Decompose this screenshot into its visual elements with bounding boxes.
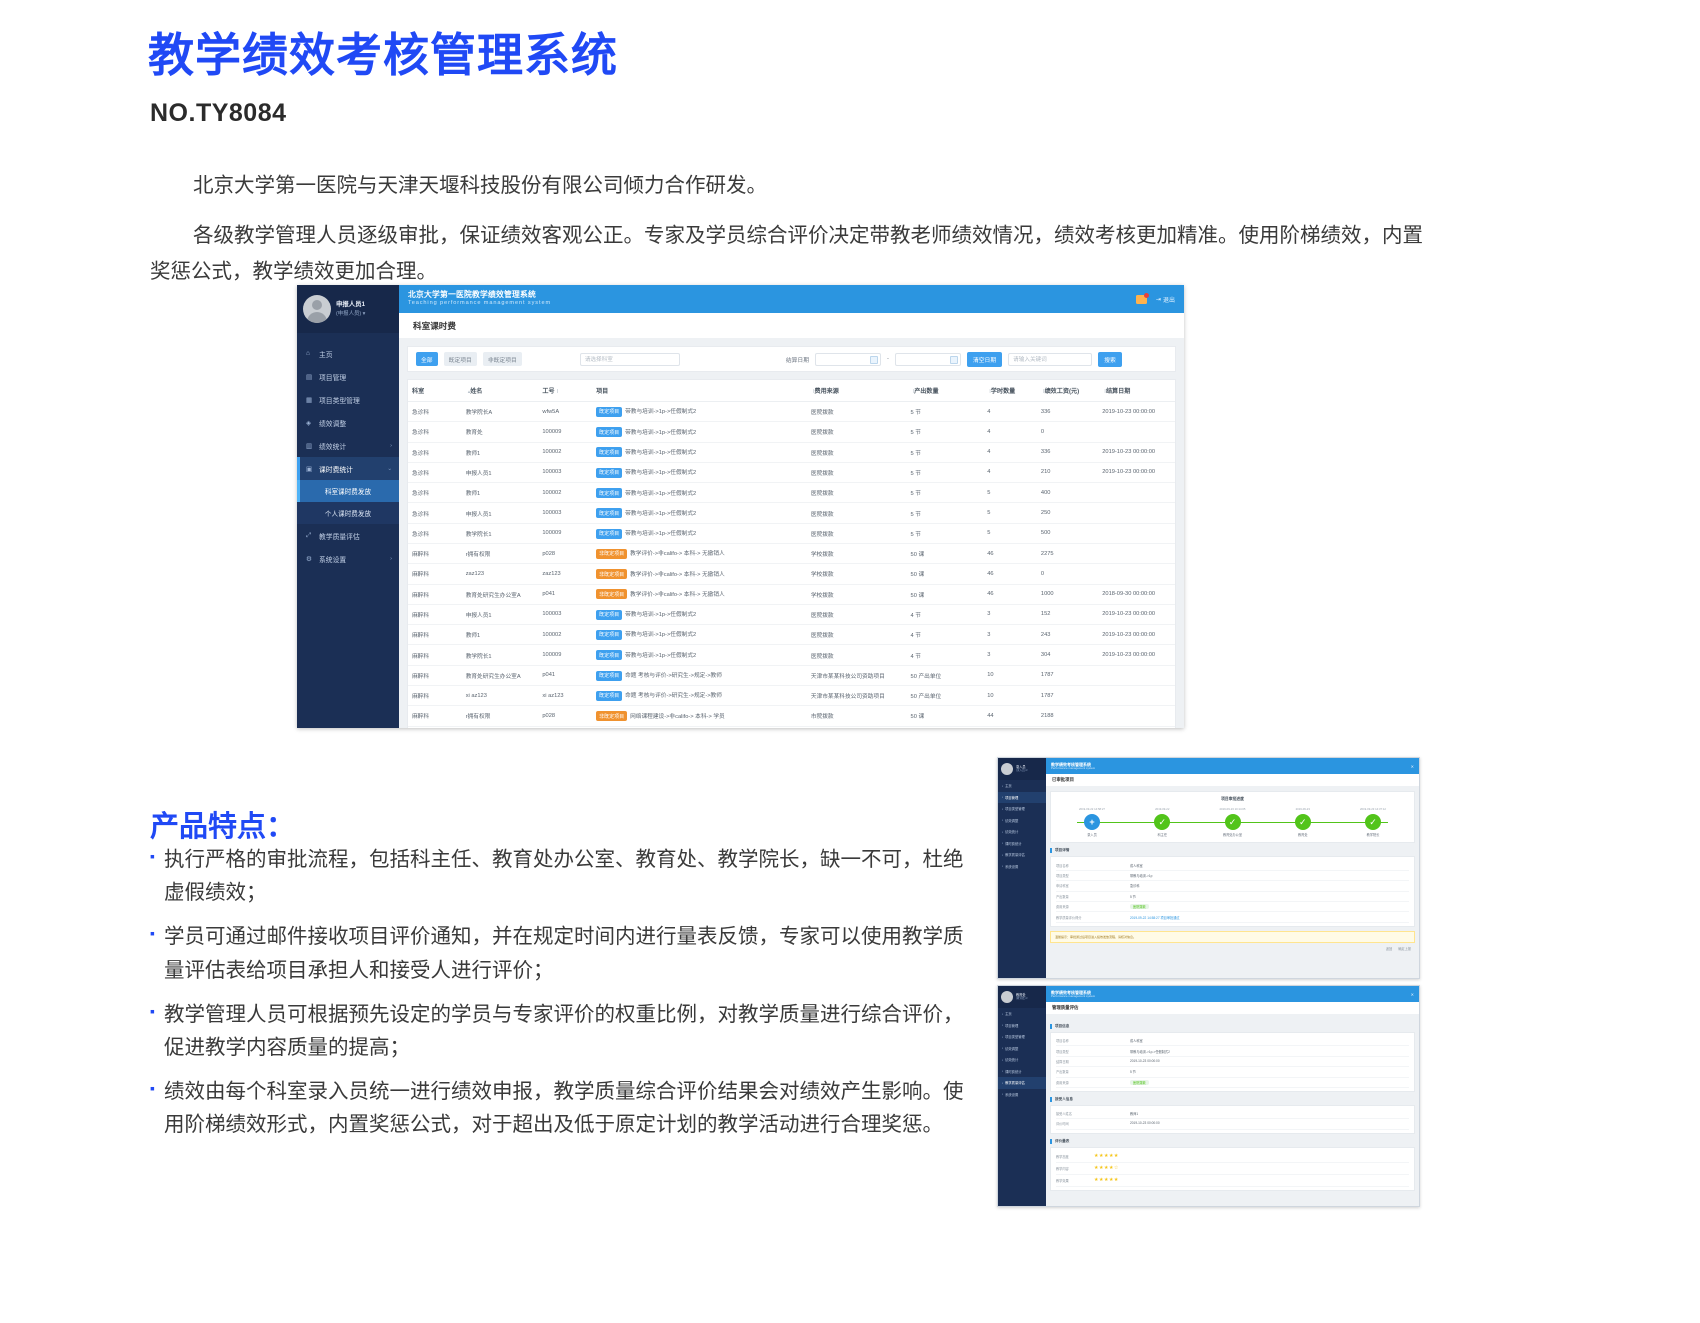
close-icon[interactable]: ✕ <box>1411 764 1414 769</box>
step-name: 科主任 <box>1131 833 1193 837</box>
sidebar-subitem-dept-class-fee[interactable]: 科室课时费发放 <box>297 480 399 502</box>
star-rating-icon[interactable]: ★★★★★ <box>1094 1153 1119 1159</box>
filter-chip-nonfixed-project[interactable]: 非既定项目 <box>483 352 522 366</box>
table-row[interactable]: 麻醉科教师1100002既定项目带教与培训->1p->任假制式2医院拨款4 节3… <box>408 625 1175 645</box>
step-status-icon: ✓ <box>1295 814 1311 830</box>
cell-name: 教学院长1 <box>462 645 539 665</box>
cell-date: 2019-10-23 00:00:00 <box>1098 442 1175 462</box>
sidebar-subitem-personal-class-fee[interactable]: 个人课时费发放 <box>297 502 399 524</box>
cell-project: 既定项目命题 考核与评价->研究生->规定->教师 <box>592 665 807 685</box>
sidebar-item-teaching-quality[interactable]: ⤢ 教学质量评估 <box>297 524 399 547</box>
table-row[interactable]: 麻醉科zaz123zaz123非既定项目网络课程建设->非califo-> 本科… <box>408 726 1175 728</box>
detail-label: 产出数量 <box>1056 894 1130 899</box>
detail-label: 项目名称 <box>1056 863 1130 868</box>
table-row[interactable]: 急诊科教师1100002既定项目带教与培训->1p->任假制式2医院拨款5 节4… <box>408 442 1175 462</box>
app-sidebar: 申报人员1 (申报人员) ▾ ⌂ 主页 ▤ 项目管理 ▦ 项目类型管理 ◈ 绩效… <box>297 285 399 728</box>
close-icon[interactable]: ✕ <box>1411 992 1414 997</box>
clear-date-button[interactable]: 清空日期 <box>967 352 1002 367</box>
project-tag: 既定项目 <box>596 529 622 539</box>
menu-icon: ▪ <box>1002 1069 1003 1073</box>
approval-step: ✓科主任 <box>1131 814 1193 837</box>
menu-icon: ▪ <box>1002 795 1003 799</box>
table-row[interactable]: 麻醉科r拥有权限p028非既定项目网络课程建设->非califo-> 本科-> … <box>408 706 1175 726</box>
col-date[interactable]: ⁞结算日期 <box>1098 380 1175 402</box>
sidebar-item-label: 主页 <box>1005 783 1012 788</box>
cell-date <box>1098 523 1175 543</box>
sidebar-item-label: 绩效调整 <box>319 418 346 428</box>
project-tag: 既定项目 <box>596 407 622 417</box>
cell-date <box>1098 685 1175 705</box>
filter-bar: 全部 既定项目 非既定项目 请选择科室 结算日期 - 清空日期 请输入关键词 搜… <box>407 346 1176 372</box>
menu-icon: ▪ <box>1002 807 1003 811</box>
detail-row: 项目类型带教与培训->1p <box>1056 871 1409 881</box>
detail-value: 成人科室 <box>1130 1038 1143 1043</box>
logout-icon: ⇥ <box>1156 296 1161 303</box>
approval-user-block[interactable]: 录入员 (录入员) ▾ <box>998 758 1046 780</box>
menu-icon: ▪ <box>1002 1023 1003 1027</box>
approval-footer: 返回 确定上报 <box>1050 943 1415 951</box>
cell-salary: 210 <box>1037 462 1098 482</box>
sidebar-item-label: 绩效统计 <box>1005 829 1018 834</box>
table-row[interactable]: 麻醉科申报人员1100003既定项目带教与培训->1p->任假制式2医院拨款4 … <box>408 604 1175 624</box>
cell-hours: 46 <box>983 564 1037 584</box>
intro-paragraph-1: 北京大学第一医院与天津天堰科技股份有限公司倾力合作研发。 <box>150 168 1430 204</box>
sidebar-item[interactable]: ▪教学质量评估 <box>998 849 1046 861</box>
bullet-icon: ▪ <box>150 843 155 909</box>
sidebar-item[interactable]: ▪课时费统计 <box>998 1066 1046 1078</box>
sidebar-user-block[interactable]: 申报人员1 (申报人员) ▾ <box>297 285 399 333</box>
user-name: 申报人员1 <box>336 300 365 310</box>
sidebar-item[interactable]: ▪主页 <box>998 780 1046 792</box>
date-start-input[interactable] <box>815 353 881 366</box>
grid-icon: ▦ <box>306 396 314 404</box>
col-jobno[interactable]: 工号⁞ <box>538 380 592 402</box>
sidebar-item[interactable]: ▪系统设置 <box>998 861 1046 873</box>
approval-content: 教学绩效考核管理系统 Performance management system… <box>1046 758 1419 978</box>
cell-name: 申报人员1 <box>462 604 539 624</box>
cell-salary: 1000 <box>1037 584 1098 604</box>
cell-project: 非既定项目教学评价->非califo-> 本科-> 无撤销人 <box>592 543 807 563</box>
table-row[interactable]: 急诊科申报人员1100003既定项目带教与培训->1p->任假制式2医院拨款5 … <box>408 503 1175 523</box>
feature-item: ▪执行严格的审批流程，包括科主任、教育处办公室、教育处、教学院长，缺一不可，杜绝… <box>150 843 970 909</box>
quality-rating-screenshot: 教育处 (教育处) ▾ ▪主页▪项目管理▪项目类型管理▪绩效调整▪绩效统计▪课时… <box>997 985 1420 1207</box>
brand-subtitle: Performance management system <box>1051 995 1095 999</box>
calendar-icon <box>950 356 958 364</box>
sidebar-item[interactable]: ▪项目管理 <box>998 792 1046 804</box>
rating-row[interactable]: 教学态度★★★★★ <box>1056 1151 1409 1163</box>
cell-project: 既定项目带教与培训->1p->任假制式2 <box>592 483 807 503</box>
cell-source: 医院拨款 <box>807 523 907 543</box>
cell-source: 天津市某某科技公司资助项目 <box>807 665 907 685</box>
avatar <box>1001 763 1013 775</box>
cell-project: 既定项目带教与培训->1p->任假制式2 <box>592 422 807 442</box>
person-info-card: 接受人姓名教师1评价时间2019-10-23 00:00:00 <box>1050 1105 1415 1134</box>
data-table: 科室 ▴姓名 工号⁞ 项目 ⁞费用来源 ⁞产出数量 ⁞学时数量 ⁞绩效工资(元)… <box>408 380 1175 728</box>
sidebar-item-label: 项目类型管理 <box>1005 1034 1025 1039</box>
sidebar-item-label: 课时费统计 <box>319 464 353 474</box>
cell-jobno: 100009 <box>538 422 592 442</box>
cell-dept: 急诊科 <box>408 483 462 503</box>
filter-chip-fixed-project[interactable]: 既定项目 <box>444 352 477 366</box>
col-salary[interactable]: ⁞绩效工资(元) <box>1037 380 1098 402</box>
cell-name: 申报人员1 <box>462 503 539 523</box>
sidebar-item-class-fee-stats[interactable]: ▣ 课时费统计 ⌄ <box>297 457 399 480</box>
cell-dept: 急诊科 <box>408 503 462 523</box>
star-rating-icon[interactable]: ★★★★☆ <box>1094 1165 1119 1171</box>
sidebar-item[interactable]: ▪项目管理 <box>998 1020 1046 1032</box>
col-dept[interactable]: 科室 <box>408 380 462 402</box>
sidebar-item-label: 系统设置 <box>1005 864 1018 869</box>
cell-hours: 5 <box>983 503 1037 523</box>
intro-paragraph-2: 各级教学管理人员逐级审批，保证绩效客观公正。专家及学员综合评价决定带教老师绩效情… <box>150 218 1430 290</box>
sidebar-item-label: 课时费统计 <box>1005 841 1021 846</box>
cell-date: 2018-09-10 00:00:00 <box>1098 726 1175 728</box>
approval-step: ✓教育处办公室 <box>1202 814 1264 837</box>
detail-value: 医院拨款 <box>1130 904 1149 909</box>
sidebar-item-project-management[interactable]: ▤ 项目管理 <box>297 365 399 388</box>
person-section-title: 接受人信息 <box>1050 1097 1415 1102</box>
chevron-down-icon: ⌄ <box>387 466 392 472</box>
cell-date: 2018-09-30 00:00:00 <box>1098 584 1175 604</box>
cell-salary: 500 <box>1037 726 1098 728</box>
cell-salary: 2188 <box>1037 706 1098 726</box>
cell-salary: 2275 <box>1037 543 1098 563</box>
cell-jobno: 100002 <box>538 483 592 503</box>
cell-jobno: 100003 <box>538 604 592 624</box>
project-section-title: 项目信息 <box>1050 1024 1415 1029</box>
cell-salary: 1787 <box>1037 685 1098 705</box>
cell-dept: 麻醉科 <box>408 564 462 584</box>
rating-sidebar: 教育处 (教育处) ▾ ▪主页▪项目管理▪项目类型管理▪绩效调整▪绩效统计▪课时… <box>998 986 1046 1206</box>
col-name[interactable]: ▴姓名 <box>462 380 539 402</box>
bullet-icon: ▪ <box>150 920 155 986</box>
detail-row: 费用来源医院拨款 <box>1056 1078 1409 1088</box>
menu-icon: ▪ <box>1002 853 1003 857</box>
sidebar-item-label: 绩效统计 <box>319 441 346 451</box>
table-row[interactable]: 急诊科教学院长1100009既定项目带教与培训->1p->任假制式2医院拨款5 … <box>408 523 1175 543</box>
table-row[interactable]: 急诊科申报人员1100003既定项目带教与培训->1p->任假制式2医院拨款5 … <box>408 462 1175 482</box>
search-button[interactable]: 搜索 <box>1098 352 1122 367</box>
sidebar-item-label: 绩效统计 <box>1005 1057 1018 1062</box>
detail-label: 费用来源 <box>1056 1080 1130 1085</box>
breadcrumb: 科室课时费 <box>399 313 1184 339</box>
user-role: (教育处) ▾ <box>1016 997 1028 1001</box>
approval-sidebar-menu: ▪主页▪项目管理▪项目类型管理▪绩效调整▪绩效统计▪课时费统计▪教学质量评估▪系… <box>998 780 1046 872</box>
col-hours[interactable]: ⁞学时数量 <box>983 380 1037 402</box>
table-row[interactable]: 麻醉科教育处研究生办公室Ap041既定项目命题 考核与评价->研究生->规定->… <box>408 665 1175 685</box>
feature-text: 教学管理人员可根据预先设定的学员与专家评价的权重比例，对教学质量进行综合评价，促… <box>164 998 970 1064</box>
detail-value: 成人科室 <box>1130 863 1143 868</box>
cell-jobno: 100002 <box>538 442 592 462</box>
sidebar-item[interactable]: ▪绩效调整 <box>998 1043 1046 1055</box>
cell-hours: 5 <box>983 483 1037 503</box>
rating-section-title: 评价量表 <box>1050 1139 1415 1144</box>
cell-date: 2019-10-23 00:00:00 <box>1098 625 1175 645</box>
detail-value: 2019-09-22 14:58:27 项目审批通过 <box>1130 915 1180 920</box>
cell-date <box>1098 665 1175 685</box>
table-row[interactable]: 麻醉科教学院长1100009既定项目带教与培训->1p->任假制式2医院拨款4 … <box>408 645 1175 665</box>
table-row[interactable]: 急诊科教育处100009既定项目带教与培训->1p->任假制式2医院拨款5 节4… <box>408 422 1175 442</box>
cell-name: r拥有权限 <box>462 706 539 726</box>
rating-main: 项目信息 项目名称成人科室项目类型带教与培训->1p->任假制式2结算日期201… <box>1046 1015 1419 1206</box>
cell-source: 医院拨款 <box>807 645 907 665</box>
cell-salary: 0 <box>1037 422 1098 442</box>
approval-main: 项目审批进度 2019-09-22 14:58:272019-09-222019… <box>1046 787 1419 978</box>
cell-project: 既定项目带教与培训->1p->任假制式2 <box>592 462 807 482</box>
cell-date <box>1098 422 1175 442</box>
sidebar-item-project-type-management[interactable]: ▦ 项目类型管理 <box>297 388 399 411</box>
intro-text: 北京大学第一医院与天津天堰科技股份有限公司倾力合作研发。 各级教学管理人员逐级审… <box>150 168 1430 304</box>
submit-button[interactable]: 确定上报 <box>1398 946 1411 951</box>
detail-label: 费用来源 <box>1056 904 1130 909</box>
feature-text: 绩效由每个科室录入员统一进行绩效申报，教学质量综合评价结果会对绩效产生影响。使用… <box>164 1075 970 1141</box>
cell-output: 5 节 <box>907 442 984 462</box>
detail-label: 项目类型 <box>1056 1049 1130 1054</box>
cell-source: 医院拨款 <box>807 462 907 482</box>
table-row[interactable]: 麻醉科xi az123xi az123既定项目命题 考核与评价->研究生->规定… <box>408 685 1175 705</box>
cell-output: 4 节 <box>907 604 984 624</box>
project-tag: 既定项目 <box>596 671 622 681</box>
sidebar-item-system-settings[interactable]: ⚙ 系统设置 › <box>297 547 399 570</box>
sidebar-item-performance-stats[interactable]: ▥ 绩效统计 › <box>297 434 399 457</box>
menu-icon: ▪ <box>1002 864 1003 868</box>
cell-project: 非既定项目网络课程建设->非califo-> 本科-> 学员 <box>592 726 807 728</box>
rating-content: 教学绩效考核管理系统 Performance management system… <box>1046 986 1419 1206</box>
approval-header: 教学绩效考核管理系统 Performance management system… <box>1046 758 1419 774</box>
approval-step: ✓教育处 <box>1272 814 1334 837</box>
sidebar-item[interactable]: ▪项目类型管理 <box>998 1031 1046 1043</box>
cell-source: 学校拨款 <box>807 584 907 604</box>
cell-source: 市院拨款 <box>807 726 907 728</box>
approval-progress-card: 项目审批进度 2019-09-22 14:58:272019-09-222019… <box>1050 791 1415 843</box>
sidebar-subitem-label: 科室课时费发放 <box>325 486 371 496</box>
table-body: 急诊科教学院长Awfw5A既定项目带教与培训->1p->任假制式2医院拨款5 节… <box>408 402 1175 729</box>
cell-output: 50 课 <box>907 543 984 563</box>
sidebar-item-home[interactable]: ⌂ 主页 <box>297 342 399 365</box>
cell-name: r拥有权限 <box>462 543 539 563</box>
cell-project: 既定项目带教与培训->1p->任假制式2 <box>592 402 807 422</box>
cell-dept: 麻醉科 <box>408 706 462 726</box>
date-separator: - <box>887 356 889 362</box>
cell-name: 教师1 <box>462 483 539 503</box>
feature-text: 执行严格的审批流程，包括科主任、教育处办公室、教育处、教学院长，缺一不可，杜绝虚… <box>164 843 970 909</box>
logout-button[interactable]: ⇥ 退出 <box>1156 295 1175 304</box>
approval-note: 温馨提示：审批通过后项目进入绩效发放流程，请核对信息。 <box>1050 931 1415 943</box>
sidebar-item-label: 系统设置 <box>319 554 346 564</box>
sidebar-item[interactable]: ▪绩效统计 <box>998 826 1046 838</box>
menu-icon: ▪ <box>1002 830 1003 834</box>
card-title: 项目审批进度 <box>1057 797 1408 802</box>
cell-name: zaz123 <box>462 564 539 584</box>
filter-chip-all[interactable]: 全部 <box>416 352 438 366</box>
step-status-icon: ✓ <box>1225 814 1241 830</box>
sidebar-item-label: 项目管理 <box>319 372 346 382</box>
rating-row[interactable]: 教学内容★★★★☆ <box>1056 1163 1409 1175</box>
detail-row: 申请科室急诊科 <box>1056 881 1409 891</box>
table-row[interactable]: 急诊科教师1100002既定项目带教与培训->1p->任假制式2医院拨款5 节5… <box>408 483 1175 503</box>
project-tag: 既定项目 <box>596 610 622 620</box>
cell-source: 医院拨款 <box>807 442 907 462</box>
detail-value: 医院拨款 <box>1130 1080 1149 1085</box>
feature-text: 学员可通过邮件接收项目评价通知，并在规定时间内进行量表反馈，专家可以使用教学质量… <box>164 920 970 986</box>
sidebar-item-performance-adjust[interactable]: ◈ 绩效调整 <box>297 411 399 434</box>
sidebar-item[interactable]: ▪教学质量评估 <box>998 1077 1046 1089</box>
rating-label: 教学内容 <box>1056 1166 1090 1171</box>
rating-label: 教学态度 <box>1056 1154 1090 1159</box>
cell-salary: 243 <box>1037 625 1098 645</box>
cell-salary: 1787 <box>1037 665 1098 685</box>
sidebar-item[interactable]: ▪绩效调整 <box>998 815 1046 827</box>
cell-salary: 500 <box>1037 523 1098 543</box>
cell-hours: 46 <box>983 584 1037 604</box>
sidebar-item[interactable]: ▪绩效统计 <box>998 1054 1046 1066</box>
cell-source: 学校拨款 <box>807 564 907 584</box>
detail-row: 产出数量5 节 <box>1056 892 1409 902</box>
rating-user-block[interactable]: 教育处 (教育处) ▾ <box>998 986 1046 1008</box>
detail-row: 结算日期2019-10-23 00:00:00 <box>1056 1057 1409 1067</box>
step-status-icon: ✓ <box>1365 814 1381 830</box>
cell-hours: 44 <box>983 726 1037 728</box>
approval-step: +录入员 <box>1061 814 1123 837</box>
app-brand-subtitle: Teaching performance management system <box>408 300 551 308</box>
cell-date <box>1098 543 1175 563</box>
sidebar-item-label: 教学质量评估 <box>319 531 360 541</box>
approval-detail-card: 项目名称成人科室项目类型带教与培训->1p申请科室急诊科产出数量5 节费用来源医… <box>1050 856 1415 926</box>
brand-subtitle: Performance management system <box>1051 767 1095 771</box>
cell-jobno: 100009 <box>538 523 592 543</box>
cell-dept: 麻醉科 <box>408 543 462 563</box>
menu-icon: ▪ <box>1002 1035 1003 1039</box>
cell-output: 5 节 <box>907 503 984 523</box>
col-output[interactable]: ⁞产出数量 <box>907 380 984 402</box>
sidebar-item-label: 项目类型管理 <box>1005 806 1025 811</box>
sidebar-item[interactable]: ▪系统设置 <box>998 1089 1046 1101</box>
detail-label: 结算日期 <box>1056 1059 1130 1064</box>
cell-output: 5 节 <box>907 422 984 442</box>
cell-salary: 304 <box>1037 645 1098 665</box>
sidebar-item-label: 项目管理 <box>1005 795 1018 800</box>
cell-output: 50 课 <box>907 706 984 726</box>
detail-value: 带教与培训->1p->任假制式2 <box>1130 1049 1170 1054</box>
cell-jobno: p028 <box>538 706 592 726</box>
detail-value: 急诊科 <box>1130 883 1140 888</box>
cell-output: 50 课 <box>907 564 984 584</box>
cell-project: 既定项目命题 考核与评价->研究生->规定->教师 <box>592 685 807 705</box>
avatar <box>1001 991 1013 1003</box>
sidebar-item-label: 系统设置 <box>1005 1092 1018 1097</box>
sidebar-item[interactable]: ▪主页 <box>998 1008 1046 1020</box>
detail-label: 项目类型 <box>1056 873 1130 878</box>
features-heading: 产品特点： <box>150 803 295 845</box>
cell-dept: 麻醉科 <box>408 726 462 728</box>
table-row[interactable]: 麻醉科r拥有权限p028非既定项目教学评价->非califo-> 本科-> 无撤… <box>408 543 1175 563</box>
cell-date: 2019-10-23 00:00:00 <box>1098 462 1175 482</box>
approval-stepper: +录入员✓科主任✓教育处办公室✓教育处✓教学院长 <box>1057 814 1408 837</box>
cell-output: 4 节 <box>907 625 984 645</box>
cell-salary: 0 <box>1037 564 1098 584</box>
rating-label: 教学效果 <box>1056 1178 1090 1183</box>
sidebar-item[interactable]: ▪课时费统计 <box>998 838 1046 850</box>
cell-hours: 10 <box>983 665 1037 685</box>
search-input[interactable]: 请输入关键词 <box>1008 353 1092 366</box>
feature-item: ▪教学管理人员可根据预先设定的学员与专家评价的权重比例，对教学质量进行综合评价，… <box>150 998 970 1064</box>
project-tag: 既定项目 <box>596 691 622 701</box>
detail-row: 产出数量5 节 <box>1056 1067 1409 1077</box>
cell-dept: 急诊科 <box>408 442 462 462</box>
table-row[interactable]: 麻醉科zaz123zaz123非既定项目教学评价->非califo-> 本科->… <box>408 564 1175 584</box>
rating-row[interactable]: 教学效果★★★★★ <box>1056 1175 1409 1187</box>
cell-date <box>1098 706 1175 726</box>
department-select[interactable]: 请选择科室 <box>580 353 680 366</box>
cell-hours: 4 <box>983 402 1037 422</box>
file-icon: ▤ <box>306 373 314 381</box>
cell-salary: 400 <box>1037 483 1098 503</box>
app-content: 北京大学第一医院教学绩效管理系统 Teaching performance ma… <box>399 285 1184 728</box>
sidebar-item[interactable]: ▪项目类型管理 <box>998 803 1046 815</box>
date-end-input[interactable] <box>895 353 961 366</box>
sidebar-item-label: 项目管理 <box>1005 1023 1018 1028</box>
project-tag: 既定项目 <box>596 488 622 498</box>
calc-icon: ▣ <box>306 465 314 473</box>
cell-dept: 麻醉科 <box>408 584 462 604</box>
cell-salary: 250 <box>1037 503 1098 523</box>
cell-source: 医院拨款 <box>807 625 907 645</box>
message-icon[interactable] <box>1136 295 1147 304</box>
detail-section-title: 项目详情 <box>1050 848 1415 853</box>
cell-name: zaz123 <box>462 726 539 728</box>
approval-flow-screenshot: 录入员 (录入员) ▾ ▪主页▪项目管理▪项目类型管理▪绩效调整▪绩效统计▪课时… <box>997 757 1420 979</box>
detail-value: 教师1 <box>1130 1111 1138 1116</box>
breadcrumb: 管理质量评估 <box>1046 1002 1419 1015</box>
cell-date <box>1098 483 1175 503</box>
cell-dept: 急诊科 <box>408 523 462 543</box>
home-icon: ⌂ <box>306 350 314 357</box>
logout-label: 退出 <box>1163 295 1175 304</box>
project-tag: 既定项目 <box>596 650 622 660</box>
project-tag: 既定项目 <box>596 630 622 640</box>
col-project[interactable]: 项目 <box>592 380 807 402</box>
detail-label: 评价时间 <box>1056 1121 1130 1126</box>
user-role[interactable]: (申报人员) ▾ <box>336 310 365 318</box>
calendar-icon <box>870 356 878 364</box>
step-name: 教学院长 <box>1342 833 1404 837</box>
cell-project: 非既定项目教学评价->非califo-> 本科-> 无撤销人 <box>592 564 807 584</box>
cell-dept: 麻醉科 <box>408 625 462 645</box>
project-tag: 既定项目 <box>596 508 622 518</box>
detail-row: 项目名称成人科室 <box>1056 1036 1409 1046</box>
project-tag: 既定项目 <box>596 447 622 457</box>
project-tag: 既定项目 <box>596 468 622 478</box>
chart-icon: ▥ <box>306 442 314 450</box>
sidebar-item-label: 主页 <box>1005 1011 1012 1016</box>
data-table-wrapper: 科室 ▴姓名 工号⁞ 项目 ⁞费用来源 ⁞产出数量 ⁞学时数量 ⁞绩效工资(元)… <box>407 379 1176 728</box>
back-button[interactable]: 返回 <box>1386 946 1392 951</box>
tune-icon: ◈ <box>306 419 314 427</box>
detail-list: 项目名称成人科室项目类型带教与培训->1p申请科室急诊科产出数量5 节费用来源医… <box>1056 860 1409 922</box>
step-status-icon: + <box>1084 814 1100 830</box>
star-rating-icon[interactable]: ★★★★★ <box>1094 1177 1119 1183</box>
sidebar-subitem-label: 个人课时费发放 <box>325 508 371 518</box>
step-time: 2019-09-22 14:58:27 <box>1061 807 1123 811</box>
table-row[interactable]: 麻醉科教育处研究生办公室Ap041非既定项目教学评价->非califo-> 本科… <box>408 584 1175 604</box>
cell-output: 5 节 <box>907 523 984 543</box>
main-app-screenshot: 申报人员1 (申报人员) ▾ ⌂ 主页 ▤ 项目管理 ▦ 项目类型管理 ◈ 绩效… <box>297 285 1184 728</box>
col-source[interactable]: ⁞费用来源 <box>807 380 907 402</box>
detail-row: 教学质量评价得分2019-09-22 14:58:27 项目审批通过 <box>1056 912 1409 922</box>
table-row[interactable]: 急诊科教学院长Awfw5A既定项目带教与培训->1p->任假制式2医院拨款5 节… <box>408 402 1175 422</box>
sidebar-item-label: 教学质量评估 <box>1005 852 1025 857</box>
cell-hours: 4 <box>983 442 1037 462</box>
